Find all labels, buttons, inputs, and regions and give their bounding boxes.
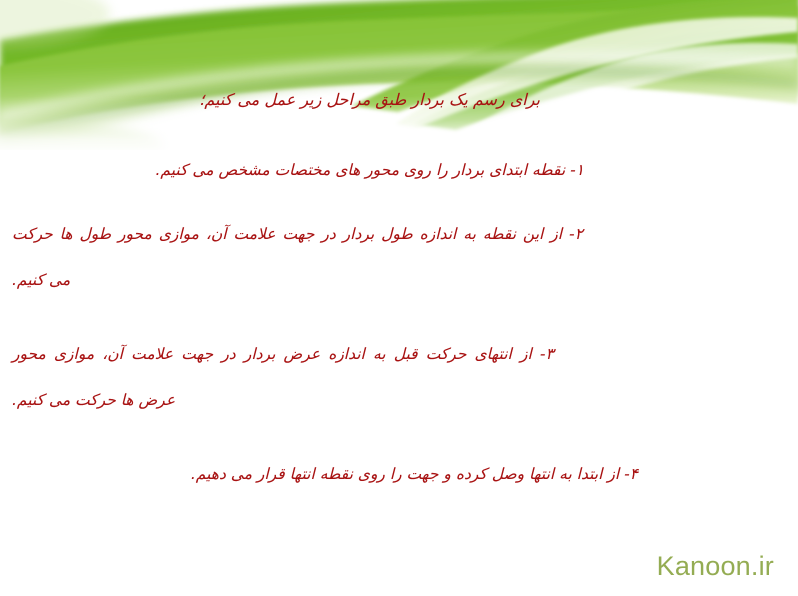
kanoon-watermark: Kanoon.ir	[657, 551, 774, 582]
step-1-text: ۱- نقطه ابتدای بردار را روی محور های مخت…	[155, 158, 584, 182]
slide-title: برای رسم یک بردار طبق مراحل زیر عمل می ک…	[199, 88, 540, 113]
step-2-continuation: می کنیم.	[12, 268, 786, 292]
step-3-text: ۳- از انتهای حرکت قبل به اندازه عرض بردا…	[12, 345, 554, 363]
slide-canvas: برای رسم یک بردار طبق مراحل زیر عمل می ک…	[0, 0, 798, 596]
step-2-block: ۲- از این نقطه به اندازه طول بردار در جه…	[12, 222, 786, 292]
slide-text-content: برای رسم یک بردار طبق مراحل زیر عمل می ک…	[0, 0, 798, 596]
step-4-text: ۴- از ابتدا به انتها وصل کرده و جهت را ر…	[191, 462, 638, 486]
step-2-text: ۲- از این نقطه به اندازه طول بردار در جه…	[12, 225, 583, 243]
step-3-block: ۳- از انتهای حرکت قبل به اندازه عرض بردا…	[12, 342, 786, 412]
step-3-continuation: عرض ها حرکت می کنیم.	[12, 388, 786, 412]
